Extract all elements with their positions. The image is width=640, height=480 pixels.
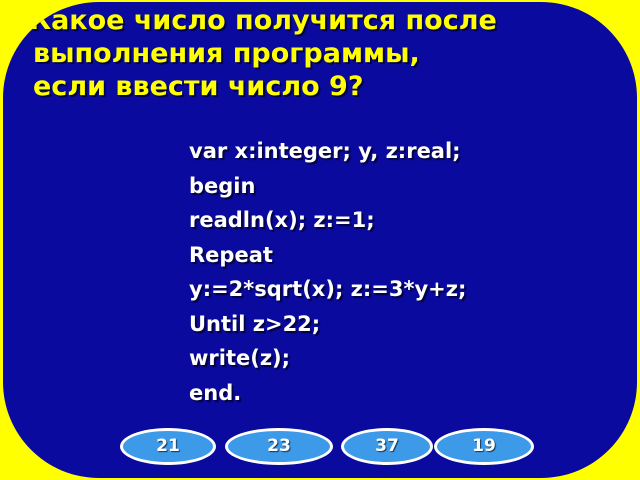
answer-option-label: 19 bbox=[472, 438, 496, 455]
answer-options: 21 23 37 19 bbox=[3, 428, 637, 470]
code-line: Repeat bbox=[189, 238, 629, 273]
pascal-code-block: var x:integer; y, z:real; begin readln(x… bbox=[189, 134, 629, 410]
code-line: y:=2*sqrt(x); z:=3*y+z; bbox=[189, 272, 629, 307]
code-line: readln(x); z:=1; bbox=[189, 203, 629, 238]
question-line: выполнения программы, bbox=[33, 37, 633, 70]
content-panel: Какое число получится после выполнения п… bbox=[3, 2, 637, 478]
answer-option-label: 23 bbox=[267, 438, 291, 455]
answer-option-label: 37 bbox=[375, 438, 399, 455]
answer-option-button[interactable]: 23 bbox=[225, 428, 333, 465]
answer-option-button[interactable]: 37 bbox=[341, 428, 433, 465]
answer-option-button[interactable]: 21 bbox=[120, 428, 216, 465]
question-line: если ввести число 9? bbox=[33, 70, 633, 103]
slide: Какое число получится после выполнения п… bbox=[0, 0, 640, 480]
answer-option-label: 21 bbox=[156, 438, 180, 455]
code-line: Until z>22; bbox=[189, 307, 629, 342]
code-line: write(z); bbox=[189, 341, 629, 376]
answer-option-button[interactable]: 19 bbox=[434, 428, 534, 465]
code-line: begin bbox=[189, 169, 629, 204]
code-line: var x:integer; y, z:real; bbox=[189, 134, 629, 169]
question-line: Какое число получится после bbox=[29, 4, 633, 37]
code-line: end. bbox=[189, 376, 629, 411]
question-title: Какое число получится после выполнения п… bbox=[33, 4, 633, 103]
